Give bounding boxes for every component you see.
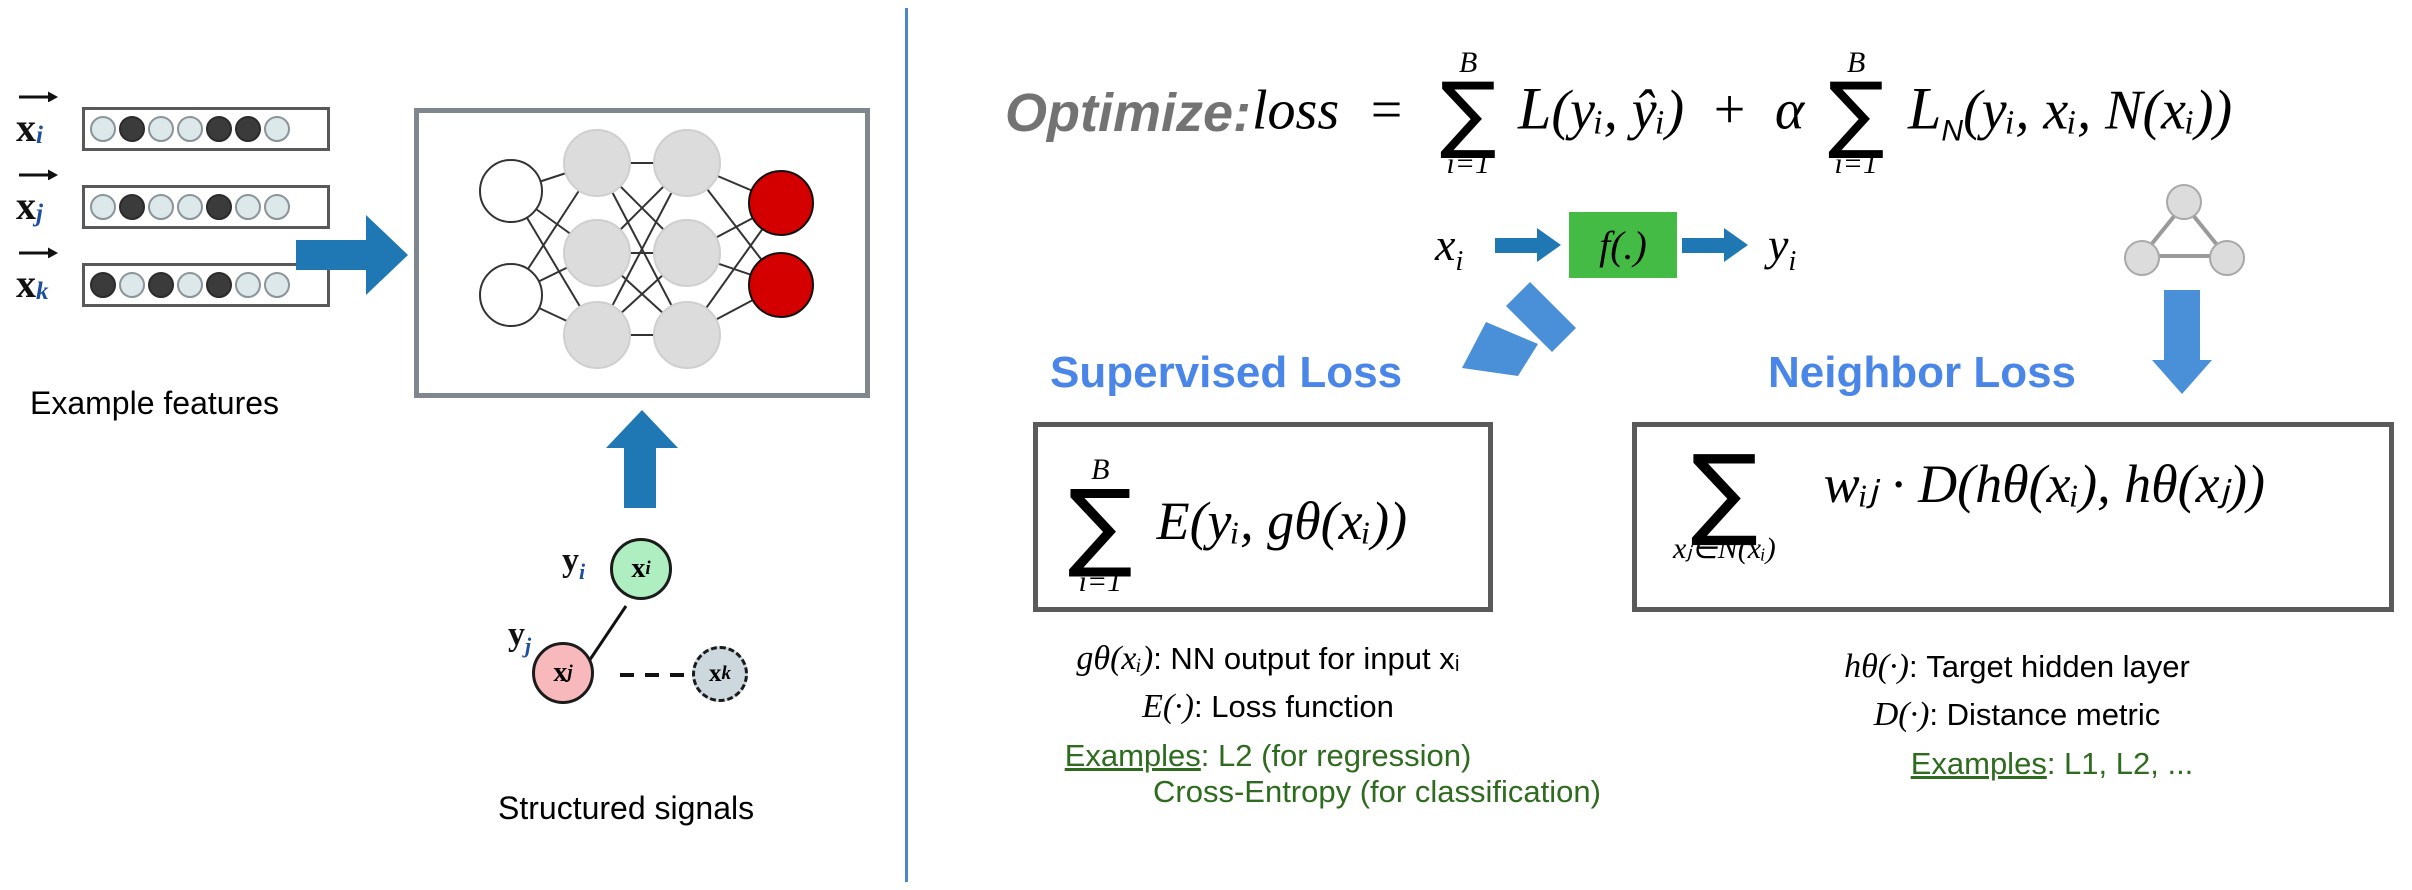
nn-hidden-node (654, 302, 720, 368)
sum1-sigma-icon: ∑ (1440, 78, 1497, 149)
vector-label-subscript: i (36, 123, 43, 148)
feature-bit (235, 194, 261, 220)
formula-plus: + (1714, 79, 1746, 141)
sum1-body-symbol: L (1518, 75, 1551, 141)
neighbor-sigma-icon: ∑ (1691, 449, 1758, 534)
neighbor-sum-lower: xⱼ∈N(xᵢ) (1673, 534, 1776, 564)
nn-hidden-node (654, 130, 720, 196)
graph-icon-node (2125, 241, 2159, 275)
vector-arrow-icon (18, 88, 58, 102)
sum-term-1: B ∑ i=1 (1440, 48, 1497, 179)
feature-bit (235, 116, 261, 142)
supervised-legend-symbol: E(·) (1142, 688, 1194, 725)
example-features-caption: Example features (30, 385, 279, 422)
sum1-body-args: (yᵢ, ŷᵢ) (1551, 79, 1684, 141)
nn-output-node (749, 253, 813, 317)
signals-to-network-arrow (602, 410, 682, 510)
label-yi-letter: y (562, 542, 579, 579)
neighbor-legend-symbol: hθ(·) (1844, 648, 1909, 685)
pipeline-arrow-in (1495, 228, 1565, 262)
neighbor-formula-body: wᵢⱼ · D(hθ(xᵢ), hθ(xⱼ)) (1824, 454, 2265, 514)
feature-bit (264, 272, 290, 298)
pipeline-output-letter: y (1768, 219, 1788, 270)
pipeline-output-subscript: i (1788, 246, 1796, 277)
sum2-lower-limit: i=1 (1834, 149, 1878, 179)
node-xj: xj (532, 642, 594, 704)
supervised-examples-line2: Cross-Entropy (for classification) (1153, 774, 1503, 810)
feature-bit (90, 272, 116, 298)
feature-bit (90, 194, 116, 220)
label-yi: yi (562, 542, 585, 585)
label-yj-subscript: j (525, 633, 531, 658)
pipeline-input-letter: x (1435, 219, 1455, 270)
formula-lhs: loss (1252, 79, 1339, 141)
supervised-sum-lower: i=1 (1079, 567, 1123, 597)
feature-bit (177, 116, 203, 142)
neighbor-legend-text: : Distance metric (1929, 697, 2160, 732)
neighbor-sum: ∑ xⱼ∈N(xᵢ) (1673, 449, 1776, 564)
sum2-body-subscript: N (1941, 115, 1963, 148)
vector-label-xk: xk (16, 264, 49, 304)
feature-bit (177, 194, 203, 220)
vector-label-letter: x (16, 264, 36, 304)
vector-label-xi: xi (16, 108, 43, 148)
feature-bit (119, 272, 145, 298)
feature-bit (148, 272, 174, 298)
feature-bit (177, 272, 203, 298)
neural-network-box (414, 108, 870, 398)
nn-output-node (749, 171, 813, 235)
nn-input-node (480, 264, 542, 326)
sum-term-2: B ∑ i=1 (1828, 48, 1885, 179)
graph-icon-node (2167, 185, 2201, 219)
optimize-label: Optimize: (1005, 82, 1251, 144)
supervised-sigma-icon: ∑ (1068, 485, 1133, 567)
feature-bit (235, 272, 261, 298)
feature-bit (264, 194, 290, 220)
neighbor-legend-text: : Target hidden layer (1909, 649, 2190, 684)
label-yi-subscript: i (579, 559, 585, 584)
sum2-sigma-icon: ∑ (1828, 78, 1885, 149)
node-xk-letter: x (709, 660, 722, 688)
node-xi-subscript: i (645, 558, 650, 580)
feature-bit (119, 194, 145, 220)
neighbor-loss-title: Neighbor Loss (1768, 348, 2076, 398)
node-xj-letter: x (553, 657, 567, 689)
label-yj-letter: y (508, 616, 525, 653)
nn-hidden-node (564, 220, 630, 286)
neighbor-loss-arrow (2152, 290, 2222, 420)
pipeline-output-label: yi (1768, 218, 1796, 278)
neighbor-examples-text1: : L1, L2, ... (2047, 746, 2193, 781)
node-xj-subscript: j (567, 662, 572, 684)
feature-bit (90, 116, 116, 142)
supervised-loss-box: B ∑ i=1 E(yᵢ, gθ(xᵢ)) (1033, 422, 1493, 612)
vector-arrow-icon (18, 244, 58, 258)
nn-hidden-node (564, 130, 630, 196)
neighbor-graph-icon (2120, 178, 2250, 283)
neighbor-loss-formula: ∑ xⱼ∈N(xᵢ) wᵢⱼ · D(hθ(xᵢ), hθ(xⱼ)) (1673, 449, 2265, 564)
nn-hidden-node (564, 302, 630, 368)
label-yj: yj (508, 616, 531, 659)
supervised-legend-item: E(·): Loss function (1033, 688, 1503, 726)
vector-label-letter: x (16, 186, 36, 226)
node-xk: xk (692, 646, 748, 702)
supervised-examples-label: Examples (1065, 738, 1201, 773)
supervised-loss-formula: B ∑ i=1 E(yᵢ, gθ(xᵢ)) (1068, 455, 1407, 597)
feature-bit (148, 116, 174, 142)
node-xi-letter: x (631, 553, 645, 585)
feature-bit (206, 194, 232, 220)
function-box: f(.) (1569, 212, 1677, 278)
neighbor-legend-item: D(·): Distance metric (1632, 696, 2402, 734)
vector-label-letter: x (16, 108, 36, 148)
neighbor-legend-symbol: D(·) (1874, 696, 1930, 733)
supervised-sum: B ∑ i=1 (1068, 455, 1133, 597)
supervised-legend-text: : Loss function (1194, 689, 1394, 724)
supervised-legend: gθ(xᵢ): NN output for input xᵢ E(·): Los… (1033, 640, 1503, 810)
graph-icon-node (2210, 241, 2244, 275)
supervised-loss-arrow (1434, 272, 1604, 402)
feature-bit (148, 194, 174, 220)
structured-signals-caption: Structured signals (498, 790, 754, 827)
formula-equals: = (1371, 79, 1403, 141)
neighbor-examples-label: Examples (1911, 746, 2047, 781)
feature-vector-row: xi (10, 110, 370, 158)
panel-divider (905, 8, 908, 882)
vector-label-subscript: k (36, 279, 49, 304)
structured-signals-graph: xi yi xj yj xk (470, 520, 870, 740)
feature-vector-box (82, 185, 330, 229)
feature-bit (206, 116, 232, 142)
neighbor-loss-box: ∑ xⱼ∈N(xᵢ) wᵢⱼ · D(hθ(xᵢ), hθ(xⱼ)) (1632, 422, 2394, 612)
supervised-loss-title: Supervised Loss (1050, 348, 1402, 398)
supervised-examples-text1: : L2 (for regression) (1201, 738, 1472, 773)
feature-bit (264, 116, 290, 142)
node-xi: xi (610, 538, 672, 600)
supervised-legend-text: : NN output for input xᵢ (1153, 641, 1459, 676)
feature-bit (119, 116, 145, 142)
main-loss-formula: loss = B ∑ i=1 L(yᵢ, ŷᵢ) + α B ∑ i=1 LN(… (1252, 48, 2232, 179)
supervised-formula-body: E(yᵢ, gθ(xᵢ)) (1157, 491, 1407, 551)
nn-hidden-node (654, 220, 720, 286)
node-xk-subscript: k (722, 663, 732, 685)
neighbor-legend-item: hθ(·): Target hidden layer (1632, 648, 2402, 686)
vector-label-xj: xj (16, 186, 43, 226)
supervised-legend-symbol: gθ(xᵢ) (1076, 640, 1153, 677)
feature-vector-box (82, 263, 330, 307)
neural-network-graph (419, 113, 865, 393)
sum2-body-symbol: L (1908, 75, 1941, 141)
formula-alpha: α (1775, 79, 1804, 141)
nn-input-node (480, 160, 542, 222)
sum1-lower-limit: i=1 (1446, 149, 1490, 179)
sum2-body-args: (yᵢ, xᵢ, N(xᵢ)) (1963, 79, 2232, 141)
feature-bit (206, 272, 232, 298)
supervised-examples-line1: Examples: L2 (for regression) (1033, 738, 1503, 774)
pipeline-input-label: xi (1435, 218, 1463, 278)
neighbor-legend: hθ(·): Target hidden layer D(·): Distanc… (1632, 648, 2402, 782)
vector-label-subscript: j (36, 201, 43, 226)
pipeline-arrow-out (1682, 228, 1752, 262)
features-to-network-arrow (296, 215, 416, 295)
neighbor-examples-line1: Examples: L1, L2, ... (1702, 746, 2402, 782)
feature-vector-box (82, 107, 330, 151)
vector-arrow-icon (18, 166, 58, 180)
supervised-legend-item: gθ(xᵢ): NN output for input xᵢ (1033, 640, 1503, 678)
